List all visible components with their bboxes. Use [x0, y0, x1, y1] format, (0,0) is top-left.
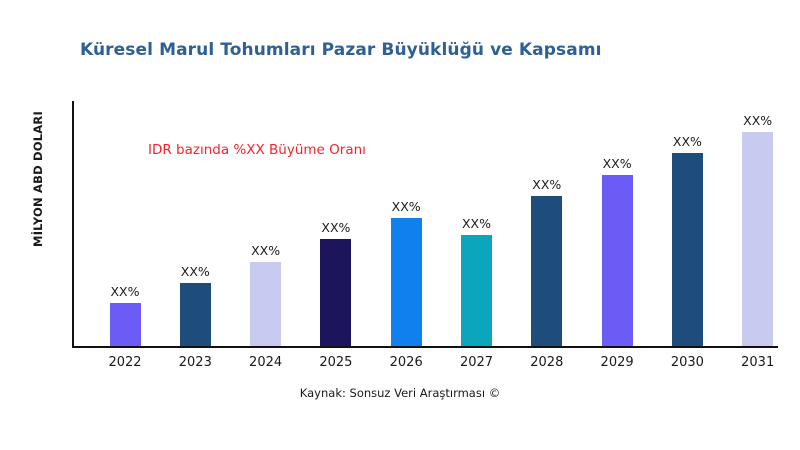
- bar-value-label: XX%: [251, 243, 280, 258]
- bar-value-label: XX%: [321, 220, 350, 235]
- growth-rate-annotation: IDR bazında %XX Büyüme Oranı: [148, 142, 366, 158]
- bar-group[interactable]: XX%: [672, 129, 703, 346]
- x-tick-label-2028: 2028: [530, 355, 563, 370]
- bar-value-label: XX%: [110, 284, 139, 299]
- bar-chart-figure: Küresel Marul Tohumları Pazar Büyüklüğü …: [0, 0, 800, 450]
- bar-value-label: XX%: [603, 156, 632, 171]
- bar-value-label: XX%: [532, 177, 561, 192]
- bar-group[interactable]: XX%: [180, 259, 211, 347]
- bar-rect[interactable]: [461, 235, 492, 346]
- x-tick-label-2029: 2029: [601, 355, 634, 370]
- x-tick-label-2024: 2024: [249, 355, 282, 370]
- bar-value-label: XX%: [181, 264, 210, 279]
- x-tick-label-2027: 2027: [460, 355, 493, 370]
- chart-title: Küresel Marul Tohumları Pazar Büyüklüğü …: [80, 40, 602, 60]
- bar-rect[interactable]: [602, 175, 633, 346]
- y-axis-line: [72, 101, 74, 348]
- bar-rect[interactable]: [320, 239, 351, 346]
- bar-group[interactable]: XX%: [391, 194, 422, 346]
- bar-rect[interactable]: [180, 283, 211, 347]
- source-note: Kaynak: Sonsuz Veri Araştırması ©: [0, 386, 800, 400]
- bar-value-label: XX%: [392, 199, 421, 214]
- y-axis-label: MİLYON ABD DOLARI: [31, 79, 45, 279]
- bar-rect[interactable]: [672, 153, 703, 346]
- bar-group[interactable]: XX%: [531, 172, 562, 346]
- bar-group[interactable]: XX%: [602, 151, 633, 346]
- bar-rect[interactable]: [391, 218, 422, 346]
- bar-rect[interactable]: [110, 303, 141, 346]
- x-tick-label-2022: 2022: [108, 355, 141, 370]
- bar-group[interactable]: XX%: [250, 238, 281, 347]
- x-tick-label-2026: 2026: [390, 355, 423, 370]
- x-tick-label-2031: 2031: [741, 355, 774, 370]
- bar-group[interactable]: XX%: [461, 211, 492, 346]
- bar-rect[interactable]: [250, 262, 281, 347]
- bar-value-label: XX%: [743, 113, 772, 128]
- bar-group[interactable]: XX%: [320, 215, 351, 346]
- bar-rect[interactable]: [531, 196, 562, 346]
- x-axis-line: [72, 346, 778, 348]
- plot-area: XX%XX%XX%XX%XX%XX%XX%XX%XX%XX%: [72, 101, 778, 348]
- x-tick-label-2025: 2025: [319, 355, 352, 370]
- bar-value-label: XX%: [462, 216, 491, 231]
- bar-group[interactable]: XX%: [742, 108, 773, 347]
- x-tick-label-2023: 2023: [179, 355, 212, 370]
- bar-value-label: XX%: [673, 134, 702, 149]
- bar-group[interactable]: XX%: [110, 279, 141, 346]
- x-tick-label-2030: 2030: [671, 355, 704, 370]
- bar-rect[interactable]: [742, 132, 773, 347]
